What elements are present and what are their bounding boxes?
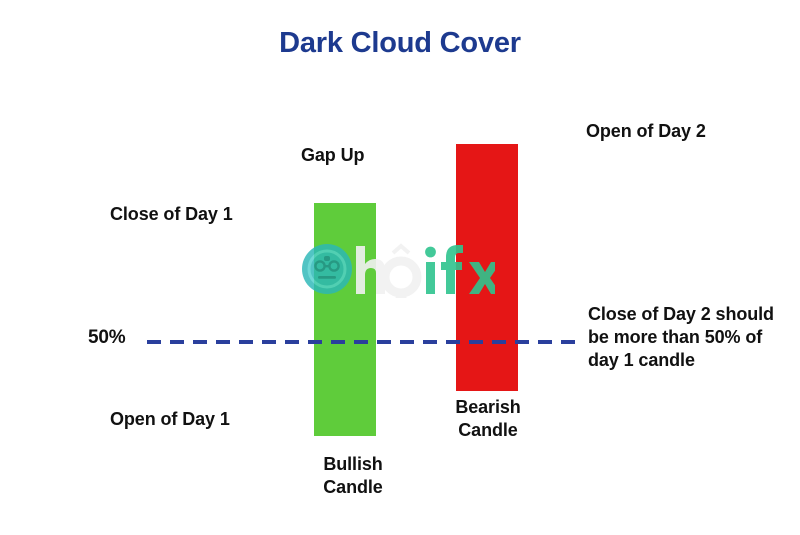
- label-close-of-day-2-rule: Close of Day 2 should be more than 50% o…: [588, 303, 793, 372]
- page-title: Dark Cloud Cover: [240, 26, 560, 61]
- label-open-of-day-1: Open of Day 1: [110, 408, 230, 431]
- label-bullish-candle: Bullish Candle: [303, 453, 403, 499]
- bullish-candle-body: [314, 203, 376, 436]
- midline-50-percent: [147, 340, 579, 344]
- label-open-of-day-2: Open of Day 2: [586, 120, 706, 143]
- dashed-line-icon: [147, 340, 579, 344]
- label-bearish-candle: Bearish Candle: [438, 396, 538, 442]
- label-gap-up: Gap Up: [301, 144, 364, 167]
- bearish-candle-body: [456, 144, 518, 391]
- label-50-percent: 50%: [88, 327, 125, 349]
- dark-cloud-cover-figure: Dark Cloud Cover: [0, 0, 800, 535]
- label-close-of-day-1: Close of Day 1: [110, 203, 233, 226]
